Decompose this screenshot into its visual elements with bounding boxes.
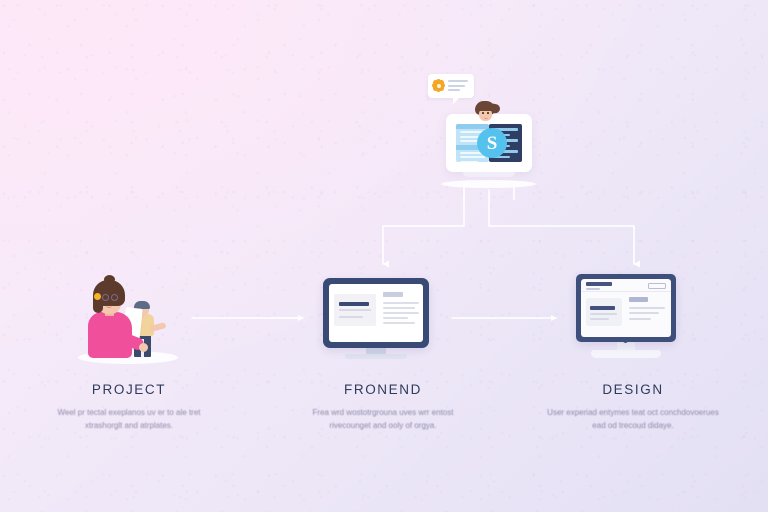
- currency-badge: S: [477, 128, 507, 158]
- node-description-project: Weel pr tectal exeplanos uv er to ale tr…: [24, 406, 234, 432]
- bubble-text-lines: [448, 80, 468, 94]
- hero-monitor-base: [441, 180, 536, 188]
- screen-card: [334, 294, 376, 326]
- node-title-design: DESIGN: [528, 382, 738, 397]
- node-frontend: FRONEND Frea wrd wostotrgrouna uves wrr …: [278, 268, 488, 432]
- screen-card: [586, 298, 622, 326]
- screen-button: [648, 283, 666, 289]
- imac-frame: [576, 274, 676, 342]
- illustration-canvas: S: [0, 0, 768, 512]
- node-description-frontend: Frea wrd wostotrgrouna uves wrr entost r…: [278, 406, 488, 432]
- hero-table-leg-right: [513, 184, 515, 200]
- node-project: PROJECT Weel pr tectal exeplanos uv er t…: [24, 268, 234, 432]
- frontend-artwork: [278, 268, 488, 368]
- screen-subtitle-bar: [586, 288, 600, 290]
- speech-bubble: [428, 74, 474, 98]
- hero-person-avatar: [474, 101, 498, 123]
- primary-person: [84, 272, 146, 358]
- hero-table-leg-left: [463, 184, 465, 200]
- earring-icon: [94, 293, 101, 300]
- hero-illustration: S: [425, 68, 543, 198]
- node-title-project: PROJECT: [24, 382, 234, 397]
- monitor-screen: [329, 284, 423, 342]
- node-title-frontend: FRONEND: [278, 382, 488, 397]
- glasses-icon: [102, 294, 119, 301]
- connector-hero-to-frontend: [383, 190, 464, 264]
- hero-monitor-neck: [463, 172, 515, 177]
- node-description-design: User experiad entymes teat oct conchdovo…: [528, 406, 738, 432]
- screen-logo: [586, 282, 612, 286]
- node-design: DESIGN User experiad entymes teat oct co…: [528, 268, 738, 432]
- imac-screen: [581, 279, 671, 337]
- gear-icon: [433, 80, 444, 91]
- screen-text-column: [383, 292, 419, 327]
- monitor-base: [345, 354, 407, 359]
- connector-layer: [0, 0, 768, 512]
- imac-dot-icon: [623, 338, 628, 343]
- connector-hero-to-design: [489, 190, 634, 264]
- monitor-frame: [323, 278, 429, 348]
- design-artwork: [528, 268, 738, 368]
- project-artwork: [24, 268, 234, 368]
- imac-base: [591, 350, 661, 358]
- screen-text-column: [629, 297, 665, 323]
- background-texture: [0, 0, 768, 512]
